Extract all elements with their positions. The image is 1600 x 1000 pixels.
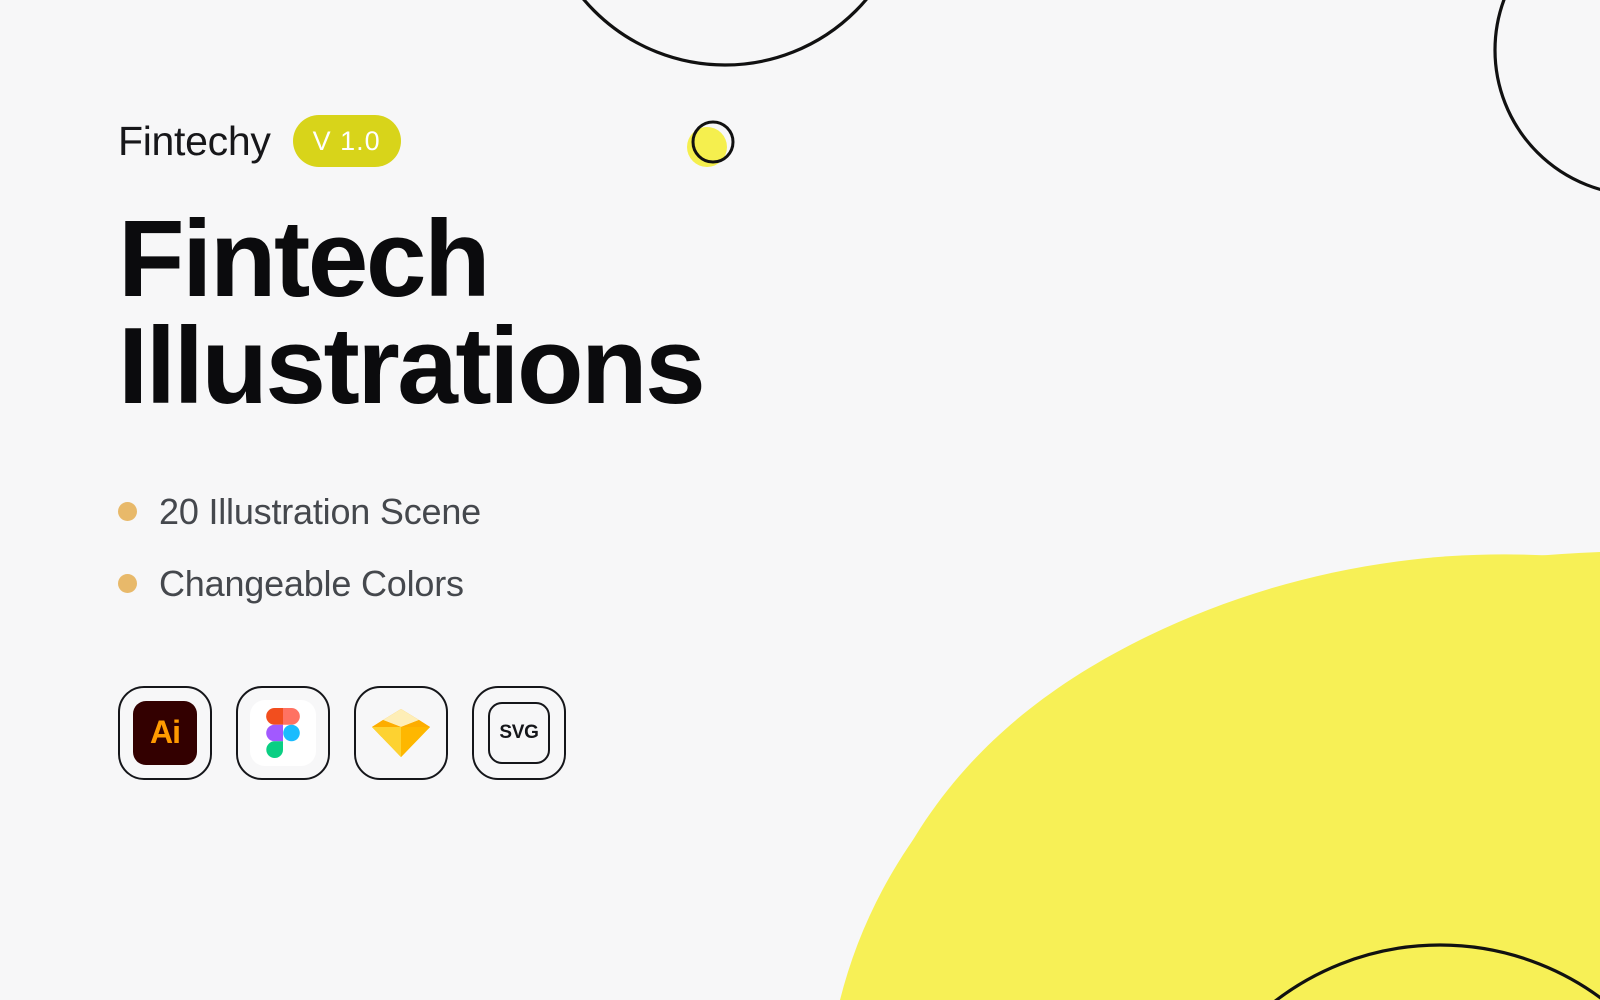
version-badge: V 1.0 <box>293 115 401 167</box>
illustrator-label: Ai <box>150 714 180 751</box>
format-chip-svg[interactable]: SVG <box>472 686 566 780</box>
format-chip-figma[interactable] <box>236 686 330 780</box>
feature-label: Changeable Colors <box>159 566 464 602</box>
svg-label: SVG <box>499 722 538 744</box>
feature-label: 20 Illustration Scene <box>159 494 481 530</box>
format-chip-sketch[interactable] <box>354 686 448 780</box>
headline-line-1: Fintech <box>118 206 778 313</box>
poster-canvas: Fintechy V 1.0 Fintech Illustrations 20 … <box>0 0 1600 1000</box>
figma-icon <box>250 700 316 766</box>
brand-name: Fintechy <box>118 121 271 162</box>
format-chip-illustrator[interactable]: Ai <box>118 686 212 780</box>
sketch-icon <box>370 705 432 761</box>
hero-text-column: Fintechy V 1.0 Fintech Illustrations 20 … <box>118 112 778 780</box>
feature-list: 20 Illustration Scene Changeable Colors <box>118 494 778 602</box>
svg-icon: SVG <box>488 702 550 764</box>
bullet-dot-icon <box>118 574 137 593</box>
format-badges: Ai <box>118 686 778 780</box>
brand-row: Fintechy V 1.0 <box>118 112 778 170</box>
list-item: Changeable Colors <box>118 566 778 602</box>
list-item: 20 Illustration Scene <box>118 494 778 530</box>
headline-line-2: Illustrations <box>118 313 778 420</box>
page-title: Fintech Illustrations <box>118 206 778 420</box>
bullet-dot-icon <box>118 502 137 521</box>
adobe-illustrator-icon: Ai <box>133 701 197 765</box>
